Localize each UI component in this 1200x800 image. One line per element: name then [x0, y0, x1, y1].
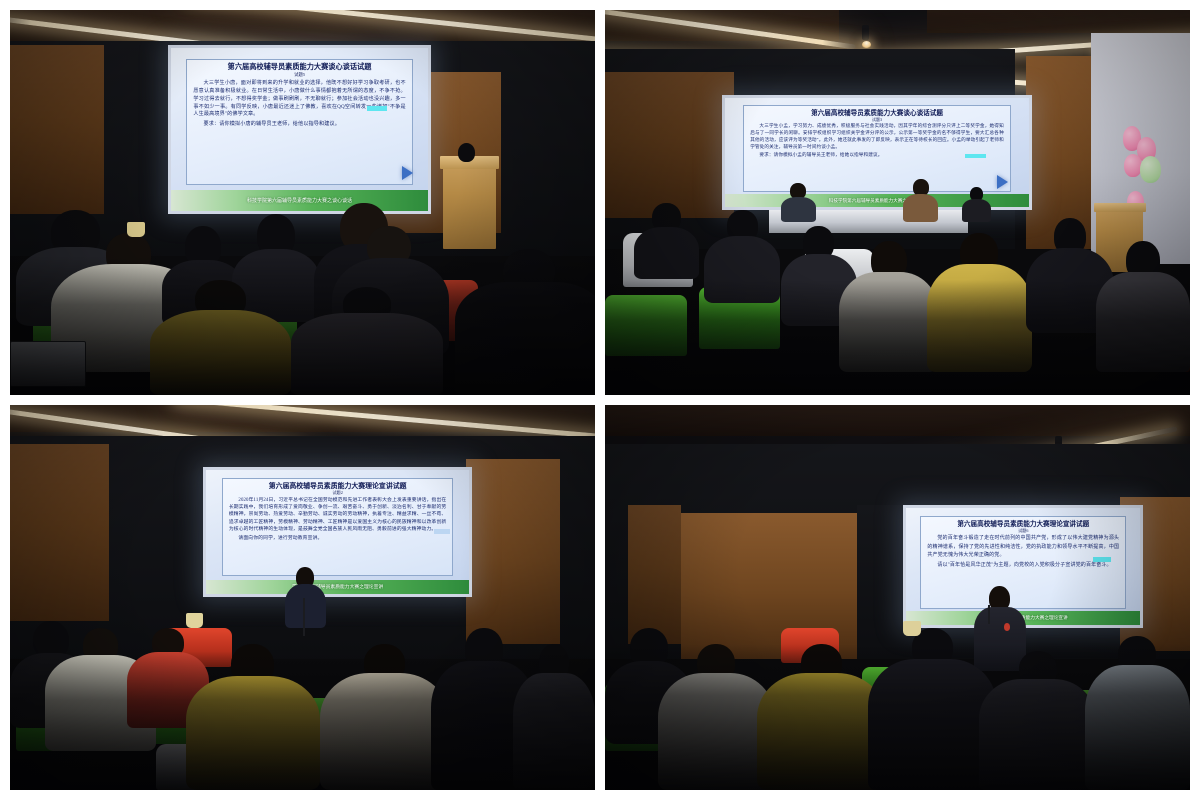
slide-subtitle: 试题5	[193, 73, 405, 78]
slide-body-text: 党的百年奋斗锻造了走在时代前列的中国共产党，形成了以伟大建党精神为源头的精神谱系…	[927, 535, 1119, 561]
photo-panel-top-left: 第六届高校辅导员素质能力大赛谈心谈话试题 试题5 大三学生小唐，面对即将到来的升…	[10, 10, 595, 395]
text-highlight	[1093, 557, 1111, 562]
wood-wall-left	[605, 72, 734, 218]
podium	[443, 156, 496, 248]
audience-member	[455, 249, 595, 395]
wall-far-right	[501, 41, 595, 257]
wood-wall-right	[466, 459, 560, 644]
slide-content: 第六届高校辅导员素质能力大赛谈心谈话试题 试题5 大三学生小唐，面对即将到来的升…	[186, 59, 412, 185]
slide-requirement-text: 请以"百年恰是风华正茂"为主题，向党校的入党积极分子宣讲党的百年奋斗。	[927, 562, 1119, 570]
judge	[962, 187, 991, 222]
slide-content: 第六届高校辅导员素质能力大赛谈心谈话试题 试题3 大三学生小孟，学习努力、成绩优…	[743, 105, 1011, 192]
audience-member	[868, 628, 997, 790]
slide-body-text: 2020年11月24日，习近平总书记在全国劳动模范和先进工作者表彰大会上发表重要…	[229, 497, 447, 534]
microphone	[988, 605, 990, 624]
lecture-hall-scene: 第六届高校辅导员素质能力大赛理论宣讲试题 试题6 党的百年奋斗锻造了走在时代前列…	[605, 405, 1190, 790]
ceiling-panel	[605, 405, 1190, 436]
slide-surface: 第六届高校辅导员素质能力大赛理论宣讲试题 试题2 2020年11月24日，习近平…	[206, 470, 469, 595]
slide-title: 第六届高校辅导员素质能力大赛谈心谈话试题	[193, 64, 405, 72]
chair-green	[605, 295, 687, 357]
audience-member-cream-coat	[320, 644, 449, 790]
wood-wall-left	[10, 444, 109, 621]
photo-panel-bottom-right: 第六届高校辅导员素质能力大赛理论宣讲试题 试题6 党的百年奋斗锻造了走在时代前列…	[605, 405, 1190, 790]
audience-member	[1096, 241, 1190, 372]
contestant-presenter	[781, 183, 816, 222]
slide-requirement-text: 要求：请你模拟小唐的辅导员王老师，给他以指导和建议。	[193, 121, 405, 129]
audience-member	[291, 287, 443, 395]
laptop	[10, 341, 86, 387]
contestant-presenter	[285, 567, 326, 629]
audience-member	[979, 651, 1096, 790]
text-highlight	[965, 154, 986, 158]
ceiling-panel	[927, 10, 1190, 33]
slide-surface: 第六届高校辅导员素质能力大赛谈心谈话试题 试题5 大三学生小唐，面对即将到来的升…	[171, 48, 428, 211]
slide-body-text: 大三学生小孟，学习努力、成绩优秀，积极服务与社会实践活动，因其学年的综合测评分只…	[750, 123, 1004, 151]
photo-collage: 第六届高校辅导员素质能力大赛谈心谈话试题 试题5 大三学生小唐，面对即将到来的升…	[0, 0, 1200, 800]
wall-far-right	[560, 436, 595, 659]
slide-content: 第六届高校辅导员素质能力大赛理论宣讲试题 试题2 2020年11月24日，习近平…	[222, 478, 454, 575]
audience-member	[704, 210, 780, 302]
event-banner: 学院第六届辅导员素质能力大赛之理论宣讲	[206, 580, 469, 595]
paper-cup	[127, 222, 145, 237]
person-head	[458, 143, 476, 162]
wood-wall-left	[10, 45, 104, 214]
slide-subtitle: 试题3	[750, 118, 1004, 122]
judge	[903, 179, 938, 221]
ceiling-spotlight	[862, 41, 871, 48]
audience-member-grey-coat	[839, 241, 938, 372]
lecture-hall-scene: 第六届高校辅导员素质能力大赛谈心谈话试题 试题3 大三学生小孟，学习努力、成绩优…	[605, 10, 1190, 395]
projection-screen: 第六届高校辅导员素质能力大赛谈心谈话试题 试题5 大三学生小唐，面对即将到来的升…	[168, 45, 431, 214]
slide-subtitle: 试题2	[229, 491, 447, 496]
microphone-stand	[303, 598, 305, 637]
text-highlight	[434, 529, 450, 534]
audience-member-yellow-coat	[150, 280, 290, 396]
balloon-green	[1140, 156, 1161, 183]
audience-member-light-jacket	[1085, 636, 1190, 790]
spotlight-housing	[862, 25, 869, 40]
text-highlight	[367, 106, 387, 112]
photo-panel-top-right: 第六届高校辅导员素质能力大赛谈心谈话试题 试题3 大三学生小孟，学习努力、成绩优…	[605, 10, 1190, 395]
slide-body-text: 大三学生小唐，面对即将到来的升学和就业的选择，他既不想好好学习争取考研，也不愿意…	[193, 80, 405, 119]
wood-wall-left	[628, 505, 681, 644]
lecture-hall-scene: 第六届高校辅导员素质能力大赛理论宣讲试题 试题2 2020年11月24日，习近平…	[10, 405, 595, 790]
left-triangle-icon[interactable]	[997, 175, 1008, 189]
photo-panel-bottom-left: 第六届高校辅导员素质能力大赛理论宣讲试题 试题2 2020年11月24日，习近平…	[10, 405, 595, 790]
audience-member	[634, 203, 698, 280]
lecture-hall-scene: 第六届高校辅导员素质能力大赛谈心谈话试题 试题5 大三学生小唐，面对即将到来的升…	[10, 10, 595, 395]
paper-cup	[903, 621, 921, 636]
paper-cup	[186, 613, 204, 628]
audience-member-yellow-coat	[927, 233, 1032, 372]
left-triangle-icon[interactable]	[402, 166, 413, 180]
podium-top	[1094, 203, 1146, 213]
projection-screen: 第六届高校辅导员素质能力大赛理论宣讲试题 试题2 2020年11月24日，习近平…	[203, 467, 472, 598]
audience-member-yellow-coat	[186, 644, 321, 790]
slide-subtitle: 试题6	[927, 529, 1119, 534]
audience-member-yellow-coat	[757, 644, 886, 790]
audience-member	[513, 644, 595, 790]
slide-requirement-text: 请面向你的同学，进行劳动教育宣讲。	[229, 535, 447, 542]
